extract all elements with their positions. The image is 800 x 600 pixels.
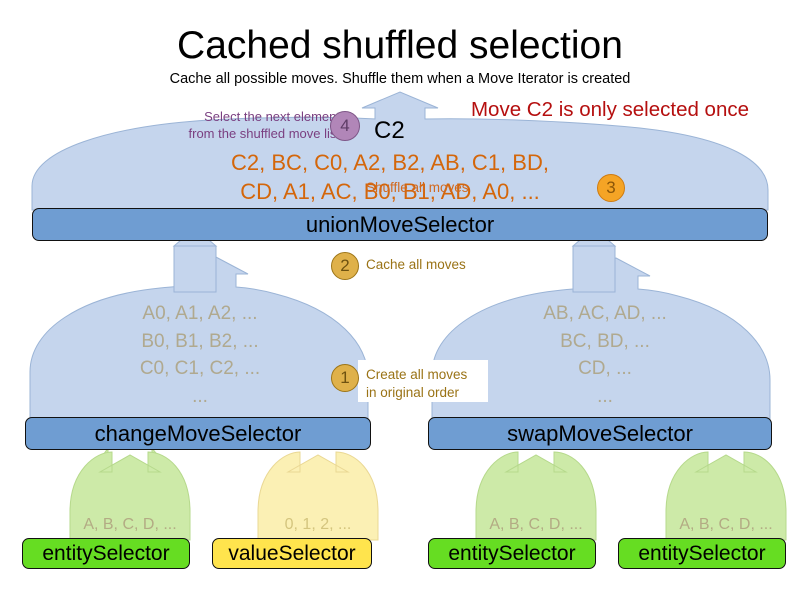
page-subtitle: Cache all possible moves. Shuffle them w… — [0, 71, 800, 87]
value-list-1: 0, 1, 2, ... — [258, 516, 378, 534]
diagram-canvas: Cached shuffled selection Cache all poss… — [0, 0, 800, 600]
warning-note: Move C2 is only selected once — [430, 98, 790, 122]
annotation-step-1-line-1: Create all moves — [366, 366, 467, 384]
entity-selector-bar-1[interactable]: entitySelector — [22, 538, 190, 569]
annotation-step-1-line-2: in original order — [366, 384, 467, 402]
selected-move-label: C2 — [374, 117, 405, 145]
swap-move-selector-bar[interactable]: swapMoveSelector — [428, 417, 772, 450]
annotation-step-1: Create all moves in original order — [366, 366, 467, 402]
page-title: Cached shuffled selection — [0, 26, 800, 67]
entity-list-1: A, B, C, D, ... — [70, 516, 190, 534]
entity-selector-bar-2[interactable]: entitySelector — [428, 538, 596, 569]
entity-selector-bar-3[interactable]: entitySelector — [618, 538, 786, 569]
shuffled-move-list-line-1: C2, BC, C0, A2, B2, AB, C1, BD, — [140, 148, 640, 177]
badge-step-2: 2 — [331, 252, 359, 280]
annotation-step-3: Shuffle all moves — [366, 179, 469, 197]
change-move-list: A0, A1, A2, ... B0, B1, B2, ... C0, C1, … — [80, 300, 320, 410]
swap-move-list-line-3: CD, ... — [490, 355, 720, 383]
change-move-list-line-4: ... — [80, 383, 320, 411]
annotation-step-4: Select the next element from the shuffle… — [120, 108, 340, 142]
entity-list-2: A, B, C, D, ... — [476, 516, 596, 534]
badge-step-4: 4 — [330, 111, 360, 141]
annotation-step-2: Cache all moves — [366, 256, 466, 274]
swap-move-list: AB, AC, AD, ... BC, BD, ... CD, ... ... — [490, 300, 720, 410]
badge-step-1: 1 — [331, 364, 359, 392]
union-move-selector-bar[interactable]: unionMoveSelector — [32, 208, 768, 241]
change-move-list-line-2: B0, B1, B2, ... — [80, 328, 320, 356]
annotation-step-4-line-2: from the shuffled move list — [120, 125, 340, 142]
entity-list-3: A, B, C, D, ... — [666, 516, 786, 534]
annotation-step-4-line-1: Select the next element — [120, 108, 340, 125]
value-selector-bar-1[interactable]: valueSelector — [212, 538, 372, 569]
change-move-list-line-3: C0, C1, C2, ... — [80, 355, 320, 383]
swap-move-list-line-2: BC, BD, ... — [490, 328, 720, 356]
change-move-selector-bar[interactable]: changeMoveSelector — [25, 417, 371, 450]
shuffled-move-list: C2, BC, C0, A2, B2, AB, C1, BD, CD, A1, … — [140, 148, 640, 207]
change-move-list-line-1: A0, A1, A2, ... — [80, 300, 320, 328]
badge-step-3: 3 — [597, 174, 625, 202]
swap-move-list-line-4: ... — [490, 383, 720, 411]
swap-move-list-line-1: AB, AC, AD, ... — [490, 300, 720, 328]
